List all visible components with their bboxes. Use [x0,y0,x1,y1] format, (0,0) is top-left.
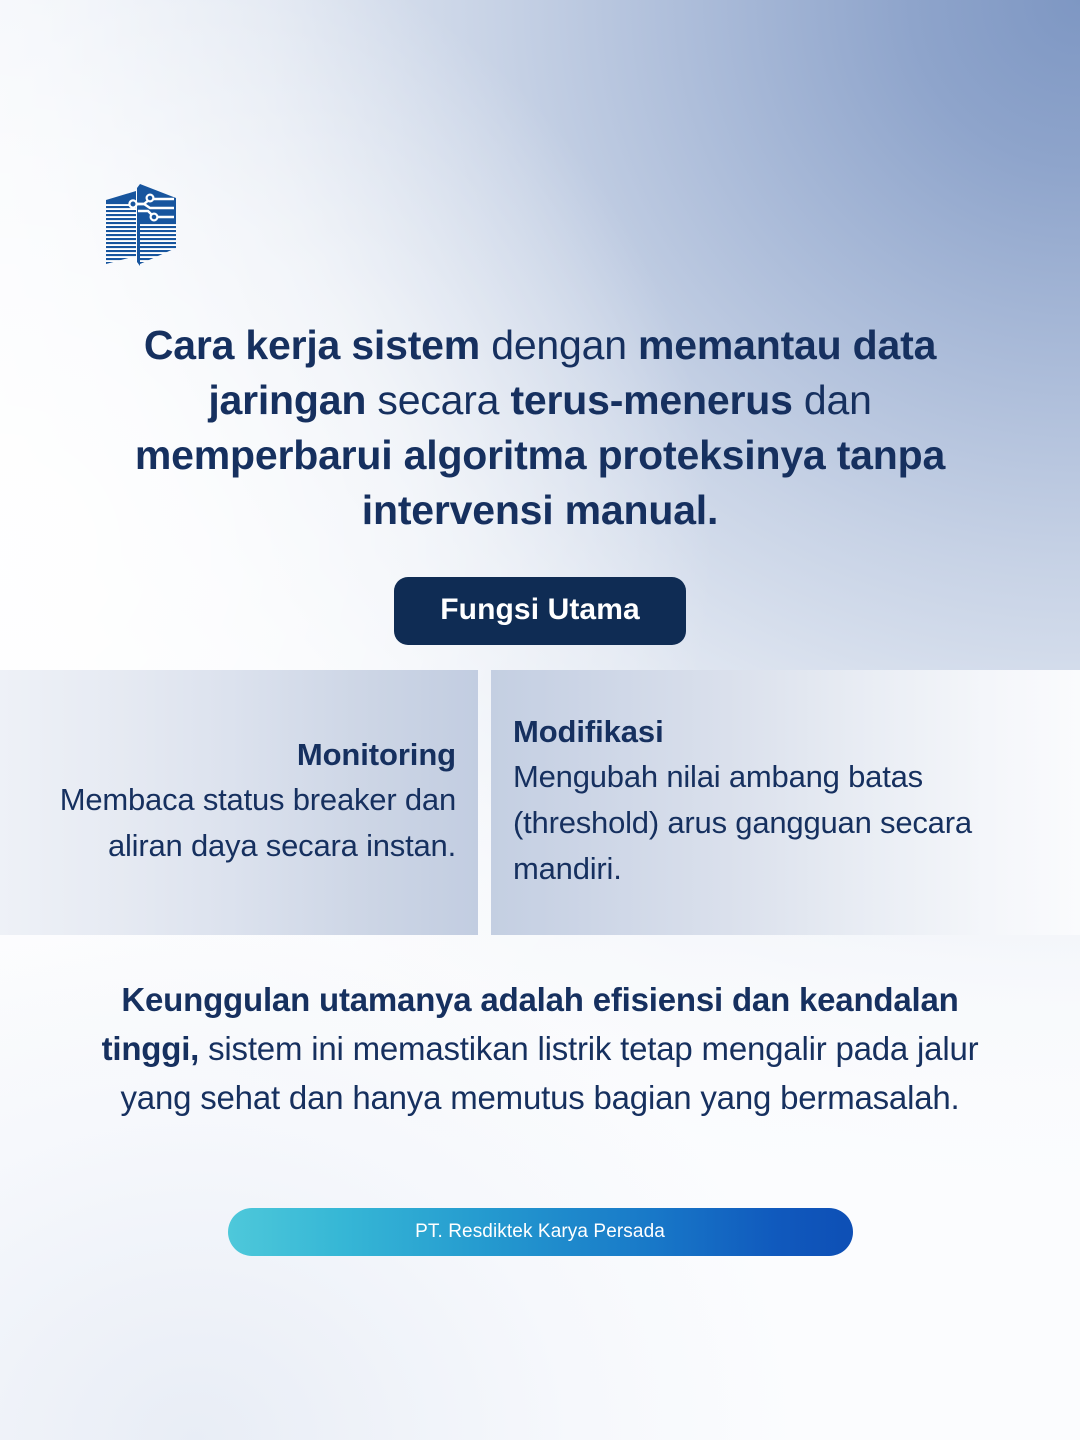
closing-seg-1: sistem ini memastikan listrik tetap meng… [121,1030,979,1116]
infographic-page: Cara kerja sistem dengan memantau data j… [0,0,1080,1440]
card-modifikasi-title: Modifikasi [513,713,1040,752]
card-modifikasi-body: Mengubah nilai ambang batas (threshold) … [513,754,1040,892]
footer-row: PT. Resdiktek Karya Persada [0,1208,1080,1256]
card-monitoring-title: Monitoring [40,736,456,775]
card-monitoring-body: Membaca status breaker dan aliran daya s… [40,777,456,869]
card-modifikasi[interactable]: Modifikasi Mengubah nilai ambang batas (… [491,670,1080,935]
closing-paragraph: Keunggulan utamanya adalah efisiensi dan… [0,975,1080,1122]
feature-cards: Monitoring Membaca status breaker dan al… [0,670,1080,935]
circuit-book-logo-icon [104,178,180,270]
headline-seg-6: memperbarui algoritma proteksinya tanpa … [135,432,945,533]
company-name-pill[interactable]: PT. Resdiktek Karya Persada [228,1208,853,1256]
headline-seg-3: secara [377,377,510,423]
badge-row: Fungsi Utama [0,577,1080,645]
card-monitoring[interactable]: Monitoring Membaca status breaker dan al… [0,670,478,935]
company-logo [104,178,180,270]
headline-seg-4: terus-menerus [510,377,803,423]
fungsi-utama-badge[interactable]: Fungsi Utama [394,577,686,645]
headline: Cara kerja sistem dengan memantau data j… [0,318,1080,538]
headline-seg-0: Cara kerja sistem [144,322,491,368]
card-divider [478,670,491,935]
headline-seg-1: dengan [491,322,638,368]
headline-seg-5: dan [804,377,872,423]
